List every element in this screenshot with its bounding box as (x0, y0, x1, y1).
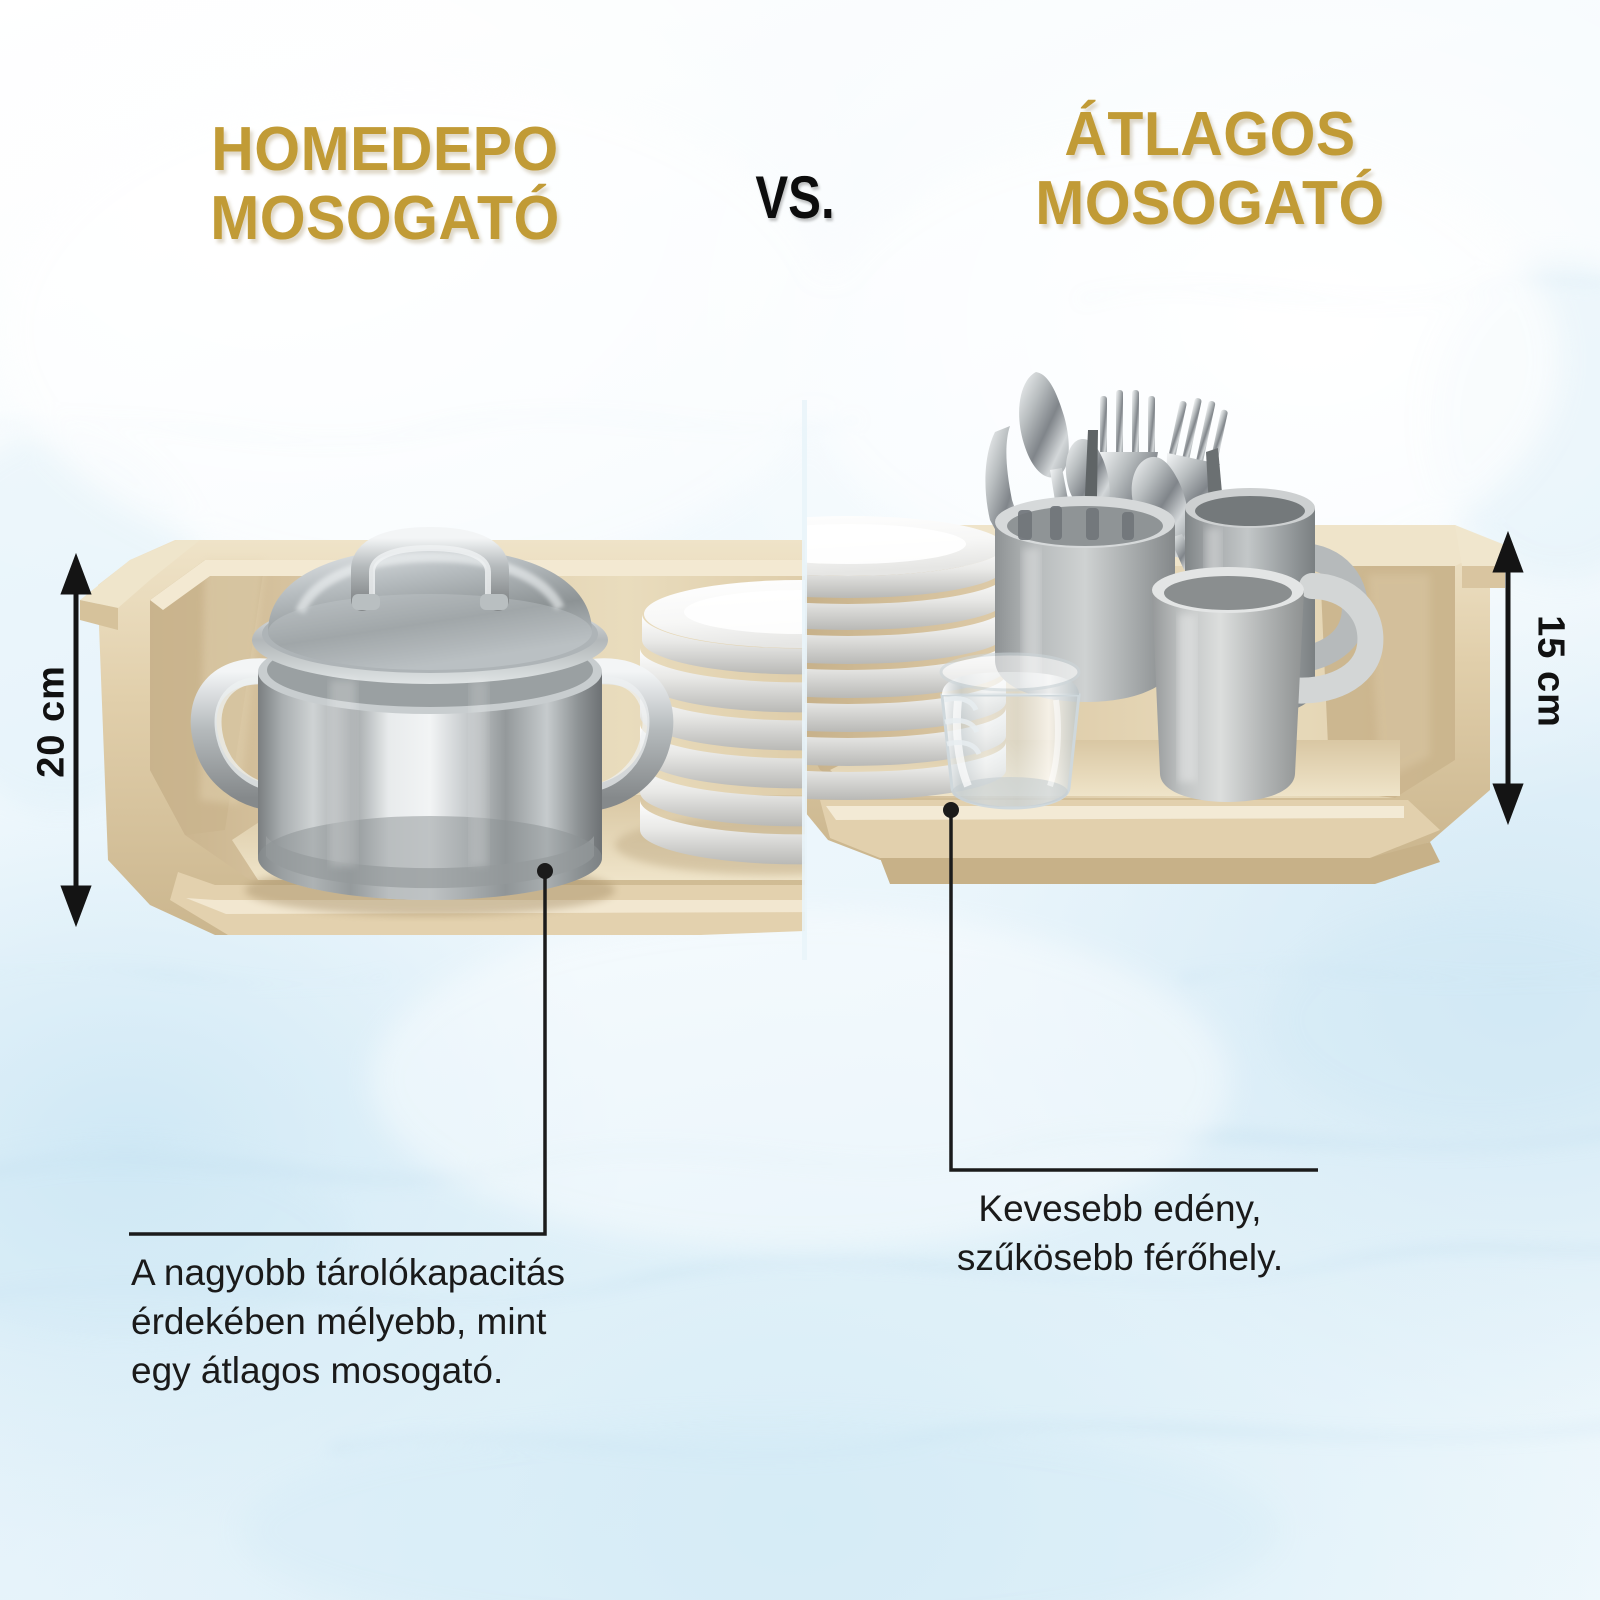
pot-lid-handle-footL (352, 594, 380, 610)
pot-lid-handle-footR (480, 594, 508, 610)
left-callout-text: A nagyobb tárolókapacitás érdekében mély… (131, 1248, 691, 1396)
right-arrow-head-bottom (1496, 786, 1520, 818)
right-front-rim-gloss (826, 806, 1404, 820)
left-product-title: HOMEDEPO MOSOGATÓ (76, 115, 694, 254)
right-depth-label: 15 cm (1529, 612, 1572, 732)
mug-dark-interior (1195, 496, 1305, 526)
left-arrow-head-top (64, 560, 88, 592)
left-callout-dot (537, 863, 553, 879)
pot-highlight-2 (470, 680, 488, 866)
left-depth-label: 20 cm (31, 662, 74, 782)
pot-base (258, 816, 602, 900)
left-arrow-head-bottom (64, 888, 88, 920)
pot-lid-reflection (268, 594, 592, 670)
versus-label: VS. (717, 163, 873, 232)
mug-light-body (1152, 590, 1304, 802)
image-seam-divider (802, 400, 807, 960)
pot-highlight-1 (330, 680, 356, 866)
right-sink-group (690, 372, 1505, 884)
cutlery-spoon-big-bowl (1019, 372, 1069, 478)
right-callout-text: Kevesebb edény, szűkösebb férőhely. (920, 1184, 1320, 1282)
glass-rim (941, 654, 1079, 690)
mug-light-gloss (1178, 614, 1196, 782)
right-product-title: ÁTLAGOS MOSOGATÓ (887, 100, 1533, 239)
right-arrow-head-top (1496, 538, 1520, 570)
drinking-glass (941, 654, 1079, 808)
right-callout-dot (943, 802, 959, 818)
mug-light-interior (1164, 576, 1292, 610)
